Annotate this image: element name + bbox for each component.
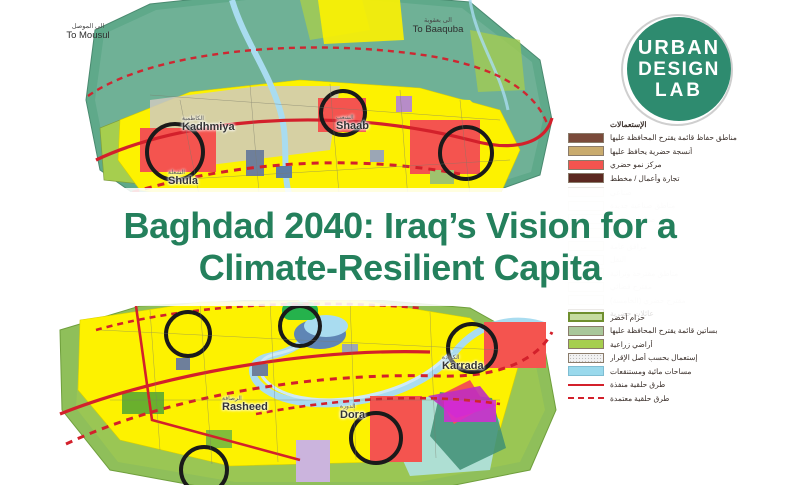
legend-item-label: بساتين قائمة يقترح المحافظة عليها: [610, 326, 796, 335]
legend-item: مناطق حفاظ قائمة يقترح المحافظة عليها: [568, 132, 796, 145]
special-zone: [296, 440, 330, 482]
legend-swatch-urban-fabric: [568, 146, 604, 156]
logo-line-lab: LAB: [655, 80, 703, 101]
urban-design-lab-logo[interactable]: URBAN DESIGN LAB: [619, 14, 739, 124]
legend-item-label: تجارة وأعمال / مخطط: [610, 174, 796, 183]
legend-item: طرق حلقية معتمدة: [568, 392, 796, 405]
legend-swatch-water: [568, 366, 604, 376]
poster-canvas: الى الموصل To Mousul الى بعقوبة To Baaqu…: [0, 0, 800, 485]
legend-item: أنسجة حضرية يحافظ عليها: [568, 145, 796, 158]
legend-swatch-orchards: [568, 326, 604, 336]
legend-item: مساحات مائية ومستنقعات: [568, 365, 796, 378]
legend-swatch-growth-center: [568, 160, 604, 170]
legend-item-label: إستعمال بحسب أصل الإقرار: [610, 353, 796, 362]
legend-item-label: حزام أخضر: [610, 313, 796, 322]
legend-land-use: الإستعمالات مناطق حفاظ قائمة يقترح المحا…: [568, 118, 796, 186]
legend-item-label: أراضي زراعية: [610, 340, 796, 349]
legend-item-label: طرق حلقية منفذة: [610, 380, 796, 389]
legend-item-label: مركز نمو حضري: [610, 160, 796, 169]
legend-swatch-green-belt: [568, 312, 604, 322]
legend-item: إستعمال بحسب أصل الإقرار: [568, 352, 796, 365]
legend-swatch-commerce: [568, 173, 604, 183]
legend-swatch-agricultural: [568, 339, 604, 349]
legend-item: أراضي زراعية: [568, 338, 796, 351]
legend-swatch-existing-use: [568, 353, 604, 363]
page-title-line-1: Baghdad 2040: Iraq’s Vision for a: [124, 205, 677, 247]
legend-swatch-conservation: [568, 133, 604, 143]
title-overlay-band: Baghdad 2040: Iraq’s Vision for a Climat…: [0, 188, 800, 306]
logo-text: URBAN DESIGN LAB: [619, 14, 739, 124]
legend-green-and-roads: حزام أخضر بساتين قائمة يقترح المحافظة عل…: [568, 311, 796, 406]
page-title-line-2: Climate-Resilient Capita: [199, 247, 602, 289]
legend-item-label: مساحات مائية ومستنقعات: [610, 367, 796, 376]
legend-swatch-ring-road-approved: [568, 397, 604, 399]
legend-item-label: طرق حلقية معتمدة: [610, 394, 796, 403]
legend-item: مركز نمو حضري: [568, 159, 796, 172]
logo-line-design: DESIGN: [638, 59, 720, 80]
legend-item: طرق حلقية منفذة: [568, 379, 796, 392]
legend-item-label: أنسجة حضرية يحافظ عليها: [610, 147, 796, 156]
legend-item-label: مناطق حفاظ قائمة يقترح المحافظة عليها: [610, 133, 796, 142]
legend-swatch-ring-road-implemented: [568, 384, 604, 386]
legend-item: بساتين قائمة يقترح المحافظة عليها: [568, 325, 796, 338]
legend-item: حزام أخضر: [568, 311, 796, 324]
legend-item: تجارة وأعمال / مخطط: [568, 172, 796, 185]
logo-line-urban: URBAN: [638, 37, 720, 59]
